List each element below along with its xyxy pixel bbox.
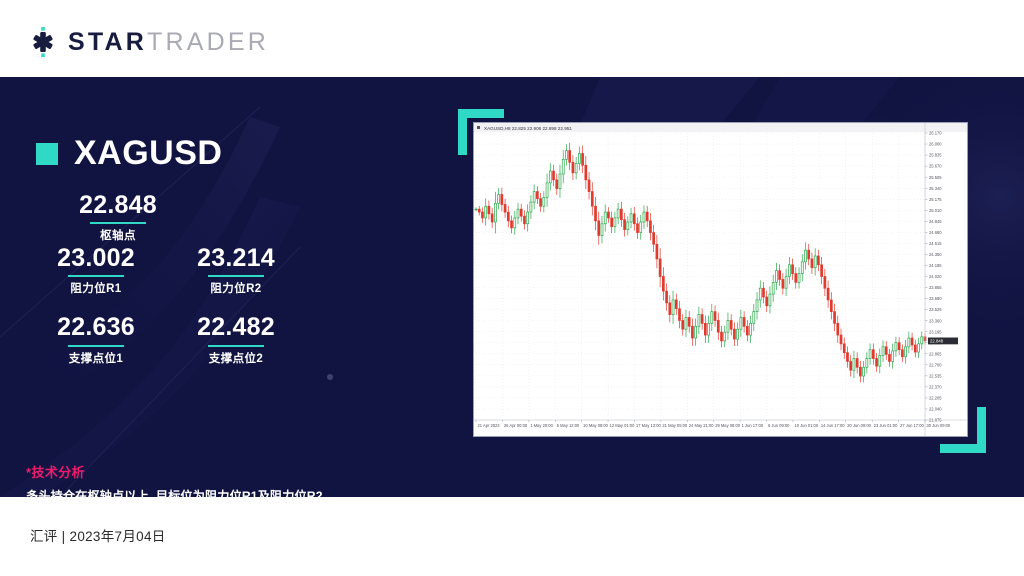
resistance-2-label: 阻力位R2 — [166, 280, 306, 296]
svg-text:22.370: 22.370 — [929, 384, 942, 389]
svg-text:21 Apr 2023: 21 Apr 2023 — [478, 423, 501, 428]
brand-name-bold: STAR — [68, 28, 147, 57]
support-1-value: 22.636 — [26, 314, 166, 340]
svg-text:25.670: 25.670 — [929, 164, 942, 169]
main-panel: XAGUSD 22.848 枢轴点 23.002 阻力位R1 23.214 阻力… — [0, 77, 1024, 497]
technical-analysis-block: *技术分析 多头持仓在枢轴点以上, 目标位为阻力位R1及阻力位R2。 若低于枢轴… — [26, 462, 426, 497]
svg-text:26.170: 26.170 — [929, 131, 942, 136]
svg-text:24.020: 24.020 — [929, 274, 942, 279]
svg-text:23.690: 23.690 — [929, 296, 942, 301]
svg-text:20 Jun 09:00: 20 Jun 09:00 — [847, 423, 871, 428]
levels-grid: 23.002 阻力位R1 23.214 阻力位R2 22.636 支撑点位1 — [26, 245, 306, 384]
svg-text:26 Apr 00:00: 26 Apr 00:00 — [504, 423, 528, 428]
page-header: STAR TRADER — [0, 0, 1024, 77]
svg-text:22.040: 22.040 — [929, 407, 942, 412]
analysis-title: *技术分析 — [26, 462, 426, 481]
price-chart[interactable]: XAGUSD,H8 22.825 22.906 22.898 22.95126.… — [473, 122, 968, 437]
svg-text:24.350: 24.350 — [929, 252, 942, 257]
svg-text:25.010: 25.010 — [929, 208, 942, 213]
svg-text:24.185: 24.185 — [929, 263, 942, 268]
asterisk-star-icon — [28, 27, 58, 57]
svg-text:10 May 08:00: 10 May 08:00 — [583, 423, 609, 428]
svg-text:23.855: 23.855 — [929, 285, 942, 290]
svg-text:25.175: 25.175 — [929, 197, 942, 202]
support-1-underline — [68, 345, 124, 347]
svg-text:22.700: 22.700 — [929, 362, 942, 367]
resistance-2-value: 23.214 — [166, 245, 306, 271]
svg-text:24.515: 24.515 — [929, 241, 942, 246]
svg-text:24.680: 24.680 — [929, 230, 942, 235]
svg-text:14 Jun 17:00: 14 Jun 17:00 — [821, 423, 845, 428]
svg-text:27 Jun 17:00: 27 Jun 17:00 — [900, 423, 924, 428]
chart-area: XAGUSD,H8 22.825 22.906 22.898 22.95126.… — [450, 109, 1010, 464]
page-footer: 汇评 | 2023年7月04日 — [0, 497, 1024, 576]
resistance-1-label: 阻力位R1 — [26, 280, 166, 296]
brand-name-light: TRADER — [147, 28, 269, 57]
svg-text:29 May 08:00: 29 May 08:00 — [715, 423, 741, 428]
support-2-stat: 22.482 支撑点位2 — [166, 314, 306, 383]
svg-text:26.000: 26.000 — [929, 142, 942, 147]
svg-text:6 Jun 09:00: 6 Jun 09:00 — [768, 423, 790, 428]
pivot-value: 22.848 — [38, 192, 198, 218]
svg-text:1 May 20:00: 1 May 20:00 — [530, 423, 553, 428]
pivot-stat: 22.848 枢轴点 — [38, 192, 198, 243]
svg-text:22.205: 22.205 — [929, 396, 942, 401]
instrument-info-column: XAGUSD 22.848 枢轴点 23.002 阻力位R1 23.214 阻力… — [0, 77, 440, 497]
svg-text:10 Jun 01:00: 10 Jun 01:00 — [794, 423, 818, 428]
svg-text:23.360: 23.360 — [929, 318, 942, 323]
svg-text:23 Jun 01:00: 23 Jun 01:00 — [874, 423, 898, 428]
pivot-label: 枢轴点 — [38, 227, 198, 243]
svg-text:25.340: 25.340 — [929, 186, 942, 191]
svg-text:XAGUSD,H8 22.825 22.906 22.89: XAGUSD,H8 22.825 22.906 22.898 22.951 — [484, 126, 572, 131]
page-title: XAGUSD — [74, 134, 222, 173]
svg-text:22.848: 22.848 — [930, 338, 944, 343]
svg-text:24.845: 24.845 — [929, 219, 942, 224]
svg-text:12 May 01:00: 12 May 01:00 — [610, 423, 636, 428]
svg-text:17 May 13:00: 17 May 13:00 — [636, 423, 662, 428]
footer-caption: 汇评 | 2023年7月04日 — [30, 525, 166, 545]
svg-text:5 May 12:00: 5 May 12:00 — [557, 423, 580, 428]
support-1-label: 支撑点位1 — [26, 350, 166, 366]
svg-text:25.835: 25.835 — [929, 153, 942, 158]
support-2-value: 22.482 — [166, 314, 306, 340]
resistance-1-value: 23.002 — [26, 245, 166, 271]
resistance-1-stat: 23.002 阻力位R1 — [26, 245, 166, 314]
svg-text:21 May 05:00: 21 May 05:00 — [662, 423, 688, 428]
resistance-2-stat: 23.214 阻力位R2 — [166, 245, 306, 314]
support-2-underline — [208, 345, 264, 347]
pivot-underline — [90, 222, 146, 224]
svg-text:23.195: 23.195 — [929, 329, 942, 334]
svg-text:24 May 21:00: 24 May 21:00 — [689, 423, 715, 428]
support-row: 22.636 支撑点位1 22.482 支撑点位2 — [26, 314, 306, 383]
support-2-label: 支撑点位2 — [166, 350, 306, 366]
analysis-line-1: 多头持仓在枢轴点以上, 目标位为阻力位R1及阻力位R2。 — [26, 487, 426, 497]
square-bullet-icon — [36, 143, 58, 165]
svg-text:22.535: 22.535 — [929, 373, 942, 378]
svg-text:25.505: 25.505 — [929, 175, 942, 180]
support-1-stat: 22.636 支撑点位1 — [26, 314, 166, 383]
svg-text:30 Jun 09:00: 30 Jun 09:00 — [927, 423, 951, 428]
instrument-heading: XAGUSD — [36, 134, 222, 173]
brand-logo[interactable]: STAR TRADER — [28, 27, 269, 57]
svg-text:22.865: 22.865 — [929, 351, 942, 356]
svg-text:23.525: 23.525 — [929, 307, 942, 312]
resistance-2-underline — [208, 275, 264, 277]
resistance-row: 23.002 阻力位R1 23.214 阻力位R2 — [26, 245, 306, 314]
svg-text:1 Jun 17:00: 1 Jun 17:00 — [742, 423, 764, 428]
resistance-1-underline — [68, 275, 124, 277]
